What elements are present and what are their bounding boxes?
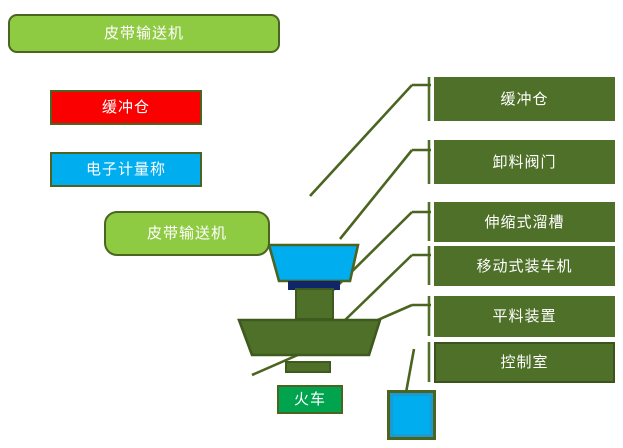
callout-leveling-device[interactable]: 平料装置: [434, 296, 615, 337]
callout-telescopic-chute[interactable]: 伸缩式溜槽: [434, 202, 615, 242]
legend-item-belt-conveyor-top[interactable]: 皮带输送机: [8, 14, 280, 53]
control-room-bevel: [390, 393, 433, 437]
mobile-loader-shape: [239, 320, 380, 355]
leader-line-buffer-bin: [310, 85, 412, 196]
callout-label-control-room: 控制室: [500, 355, 548, 370]
callout-control-room[interactable]: 控制室: [434, 342, 615, 383]
legend-label-electronic-scale: 电子计量称: [86, 162, 166, 177]
train-box[interactable]: 火车: [277, 385, 343, 414]
leader-line-discharge-valve: [340, 150, 412, 239]
callout-buffer-bin[interactable]: 缓冲仓: [434, 77, 615, 121]
callout-discharge-valve[interactable]: 卸料阀门: [434, 140, 615, 184]
legend-item-electronic-scale[interactable]: 电子计量称: [50, 152, 202, 187]
callout-label-leveling-device: 平料装置: [492, 309, 556, 324]
chute-neck: [295, 288, 334, 320]
train-label: 火车: [294, 392, 326, 407]
callout-mobile-loader[interactable]: 移动式装车机: [434, 246, 615, 286]
callout-label-telescopic-chute: 伸缩式溜槽: [484, 215, 564, 230]
mid-label-belt-conveyor-text: 皮带输送机: [147, 226, 227, 241]
legend-item-buffer-bin[interactable]: 缓冲仓: [50, 90, 202, 125]
callout-label-discharge-valve: 卸料阀门: [492, 155, 556, 170]
hopper-shape: [269, 245, 358, 281]
legend-label-belt-conveyor-top: 皮带输送机: [104, 26, 184, 41]
callout-label-mobile-loader: 移动式装车机: [476, 259, 572, 274]
callout-label-buffer-bin: 缓冲仓: [500, 92, 548, 107]
legend-label-buffer-bin: 缓冲仓: [102, 100, 150, 115]
diagram-canvas: 皮带输送机 缓冲仓 电子计量称 皮带输送机 缓冲仓 卸料阀门 伸缩式溜槽 移动式…: [0, 0, 623, 448]
mid-label-belt-conveyor[interactable]: 皮带输送机: [104, 211, 270, 256]
leveling-bar: [285, 361, 331, 373]
control-room-shape[interactable]: [387, 390, 436, 440]
